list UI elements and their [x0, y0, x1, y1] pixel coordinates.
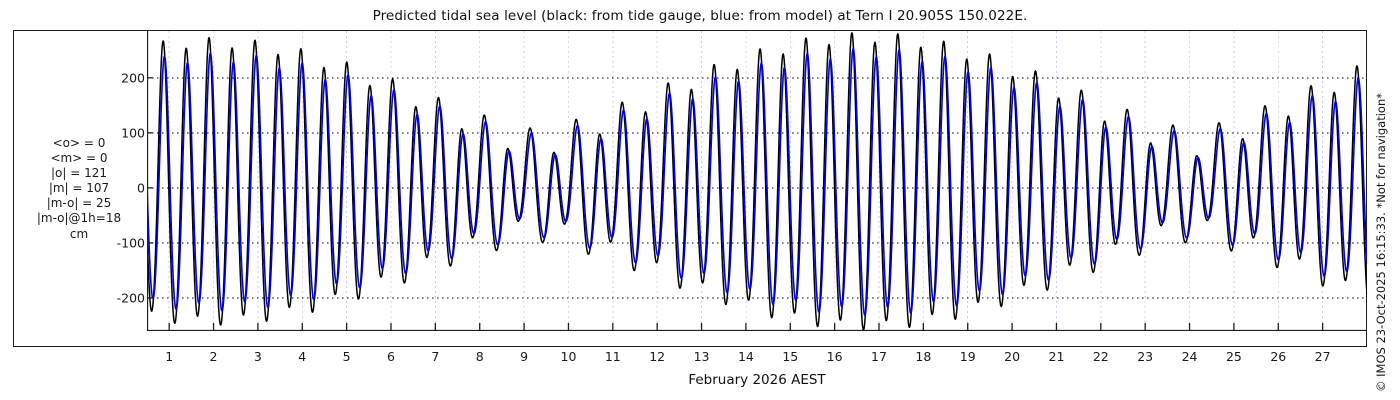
x-axis-tick-label: 25	[1214, 349, 1254, 364]
x-axis-tick-label: 6	[371, 349, 411, 364]
tidal-chart-figure: Predicted tidal sea level (black: from t…	[0, 0, 1400, 400]
x-axis-tick-labels: 1234567891011121314151617181920212223242…	[147, 349, 1367, 369]
plot-area	[147, 31, 1367, 331]
x-axis-tick-label: 9	[504, 349, 544, 364]
credit-label: © IMOS 23-Oct-2025 16:15:33. *Not for na…	[1374, 93, 1388, 392]
x-axis-tick-label: 7	[415, 349, 455, 364]
page-title: Predicted tidal sea level (black: from t…	[0, 8, 1400, 24]
x-axis-tick-label: 24	[1170, 349, 1210, 364]
credit-text: © IMOS 23-Oct-2025 16:15:33. *Not for na…	[1372, 0, 1394, 400]
x-axis-tick-label: 2	[194, 349, 234, 364]
x-axis-tick-label: 19	[948, 349, 988, 364]
x-axis-tick-label: 20	[992, 349, 1032, 364]
x-axis-tick-label: 12	[637, 349, 677, 364]
x-axis-tick-label: 14	[726, 349, 766, 364]
y-axis-tick-label: -100	[99, 235, 150, 250]
statistic-line-4: |m-o| = 25	[14, 196, 144, 211]
x-axis-tick-label: 22	[1081, 349, 1121, 364]
x-axis-tick-label: 3	[238, 349, 278, 364]
x-axis-tick-label: 13	[682, 349, 722, 364]
y-axis-tick-label: 100	[99, 125, 150, 140]
x-axis-tick-label: 1	[149, 349, 189, 364]
y-axis-tick-label: 0	[99, 180, 150, 195]
x-axis-tick-label: 16	[815, 349, 855, 364]
x-axis-tick-label: 15	[770, 349, 810, 364]
x-axis-tick-label: 17	[859, 349, 899, 364]
x-axis-tick-label: 26	[1258, 349, 1298, 364]
x-axis-tick-label: 23	[1125, 349, 1165, 364]
x-axis-tick-label: 11	[593, 349, 633, 364]
x-axis-tick-label: 4	[282, 349, 322, 364]
x-axis-tick-label: 8	[460, 349, 500, 364]
x-axis-tick-label: 18	[903, 349, 943, 364]
x-axis-tick-label: 27	[1303, 349, 1343, 364]
x-axis-tick-label: 5	[327, 349, 367, 364]
y-axis-tick-label: -200	[99, 290, 150, 305]
x-axis-title: February 2026 AEST	[147, 372, 1367, 388]
statistic-line-5: |m-o|@1h=18	[14, 211, 144, 226]
y-axis-tick-label: 200	[99, 70, 150, 85]
x-axis-tick-label: 10	[548, 349, 588, 364]
tidal-series-svg	[147, 31, 1367, 331]
statistic-line-1: <m> = 0	[14, 151, 144, 166]
statistic-line-2: |o| = 121	[14, 166, 144, 181]
x-axis-tick-label: 21	[1036, 349, 1076, 364]
